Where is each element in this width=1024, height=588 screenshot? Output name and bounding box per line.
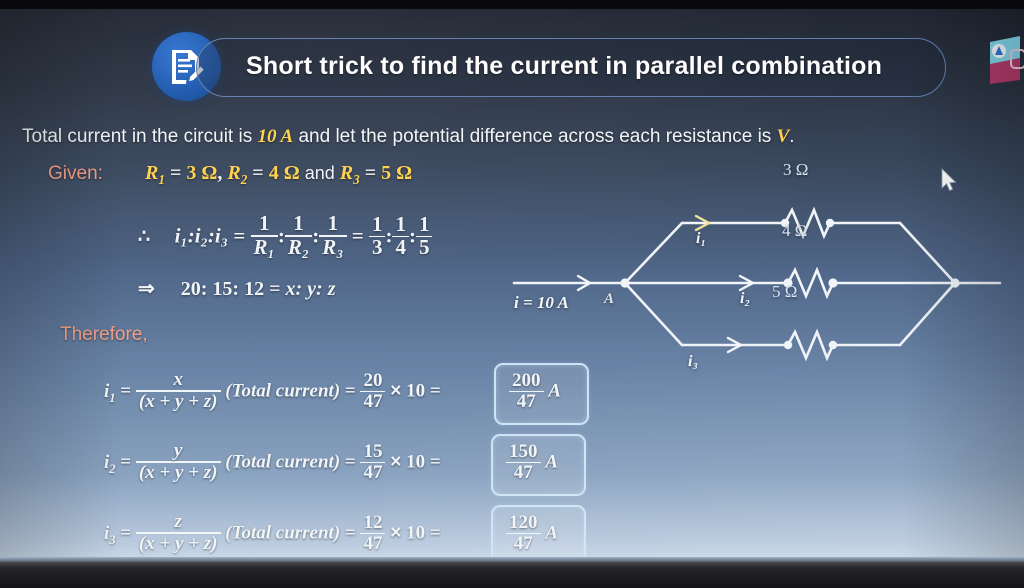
frac-1-4: 14 <box>392 214 409 258</box>
answer-2: 15047 A <box>506 442 558 482</box>
eq3-lhs: i3 <box>104 523 116 544</box>
frac-1-3: 13 <box>369 214 386 258</box>
eq1-note: (Total current) <box>225 381 340 402</box>
eq3-fraction: z(x + y + z) <box>136 512 221 553</box>
source-current-label: i = 10 A <box>514 293 569 313</box>
implies-values: 20: 15: 12 <box>181 278 264 300</box>
r3-value: 5 Ω <box>381 162 412 184</box>
eq2-ratio: 1547 <box>360 442 385 482</box>
answer-3-unit: A <box>545 523 558 544</box>
eq3-equals-1: = <box>120 523 131 544</box>
eq2-lhs: i2 <box>104 452 116 473</box>
equation-row-2: i2 = y(x + y + z) (Total current) = 1547… <box>104 441 441 482</box>
voltage-symbol: V <box>777 126 790 147</box>
ratio-equation: ∴ i₁:i₂:i₃ = 1R₁:1R₂:1R₃ = 13:14:15 <box>138 213 432 258</box>
answer-3: 12047 A <box>506 513 558 553</box>
slide-content: Short trick to find the current in paral… <box>0 8 1024 564</box>
eq3-equals-3: = <box>430 523 441 544</box>
answer-2-fraction: 15047 <box>506 442 541 482</box>
frac-1-r3: 1R₃ <box>319 213 346 258</box>
ratio-colon-2: : <box>312 224 319 248</box>
page-title: Short trick to find the current in paral… <box>246 52 936 81</box>
corner-widget[interactable] <box>990 34 1024 86</box>
photo-bottom-border <box>0 562 1024 588</box>
ratio-colon-3: : <box>385 224 392 248</box>
eq1-ratio: 2047 <box>360 371 385 411</box>
therefore-symbol: ∴ <box>138 227 150 248</box>
answer-2-unit: A <box>545 452 558 473</box>
eq3-equals-2: = <box>345 523 356 544</box>
r1-symbol: R1 <box>145 162 165 184</box>
intro-text-2: and let the potential difference across … <box>293 126 776 147</box>
ratio-equals-2: = <box>352 224 364 248</box>
eq1-lhs: i1 <box>104 381 116 402</box>
r1-value: 3 Ω <box>186 162 217 184</box>
ratio-lhs: i₁:i₂:i₃ <box>175 224 228 248</box>
eq3-times: × <box>390 523 401 544</box>
intro-line: Total current in the circuit is 10 A and… <box>22 126 795 148</box>
eq1-equals-2: = <box>345 381 356 402</box>
therefore-label: Therefore, <box>60 324 148 346</box>
r3-equals: = <box>365 162 376 184</box>
resistance-label-2: 4 Ω <box>782 221 807 241</box>
implies-equals: = <box>269 278 280 300</box>
eq1-multiplier: 10 <box>406 381 425 402</box>
ratio-colon-4: : <box>409 224 416 248</box>
photo-top-border <box>0 0 1024 9</box>
given-label: Given: <box>48 163 103 185</box>
implies-symbol: ⇒ <box>138 278 155 300</box>
resistance-label-3: 5 Ω <box>772 282 797 302</box>
r2-equals: = <box>252 162 263 184</box>
eq2-fraction: y(x + y + z) <box>136 441 221 482</box>
mouse-cursor <box>941 168 958 198</box>
branch-current-label-3: i₃ <box>688 353 698 371</box>
eq2-note: (Total current) <box>225 452 340 473</box>
equation-row-1: i1 = x(x + y + z) (Total current) = 2047… <box>104 370 441 411</box>
r2-symbol: R2 <box>227 162 247 184</box>
branch-current-label-1: i₁ <box>696 230 706 248</box>
r2-value: 4 Ω <box>269 162 300 184</box>
eq2-times: × <box>390 452 401 473</box>
ratio-colon-1: : <box>278 224 285 248</box>
eq1-fraction: x(x + y + z) <box>136 370 221 411</box>
total-current-value: 10 A <box>257 126 293 147</box>
eq2-equals-3: = <box>430 452 441 473</box>
eq1-equals-3: = <box>430 381 441 402</box>
equation-row-3: i3 = z(x + y + z) (Total current) = 1247… <box>104 512 441 553</box>
intro-text-1: Total current in the circuit is <box>22 126 257 147</box>
r3-symbol: R3 <box>340 162 360 184</box>
eq2-equals-1: = <box>120 452 131 473</box>
frac-1-5: 15 <box>416 214 433 258</box>
eq1-times: × <box>390 381 401 402</box>
parallel-circuit-diagram: 3 Ω 4 Ω 5 Ω i₁ i₂ i₃ i = 10 A A <box>500 158 1010 408</box>
intro-period: . <box>789 126 794 147</box>
implies-equation: ⇒ 20: 15: 12 = x: y: z <box>138 276 335 301</box>
eq2-multiplier: 10 <box>406 452 425 473</box>
given-sep-1: , <box>217 162 222 184</box>
frac-1-r2: 1R₂ <box>285 213 312 258</box>
r1-equals: = <box>170 162 181 184</box>
eq3-note: (Total current) <box>225 523 340 544</box>
frac-1-r1: 1R₁ <box>251 213 278 258</box>
photographed-screen: Short trick to find the current in paral… <box>0 0 1024 588</box>
node-label: A <box>604 291 614 308</box>
branch-current-label-2: i₂ <box>740 290 750 308</box>
resistance-label-1: 3 Ω <box>783 160 808 180</box>
given-sep-2: and <box>305 163 335 183</box>
eq3-ratio: 1247 <box>360 513 385 553</box>
resistor-5ohm <box>788 332 833 358</box>
eq1-equals-1: = <box>120 381 131 402</box>
eq3-multiplier: 10 <box>406 523 425 544</box>
given-values: R1 = 3 Ω, R2 = 4 Ω and R3 = 5 Ω <box>145 162 412 188</box>
eq2-equals-2: = <box>345 452 356 473</box>
implies-vars: x: y: z <box>286 278 336 300</box>
ratio-equals-1: = <box>233 224 245 248</box>
answer-3-fraction: 12047 <box>506 513 541 553</box>
